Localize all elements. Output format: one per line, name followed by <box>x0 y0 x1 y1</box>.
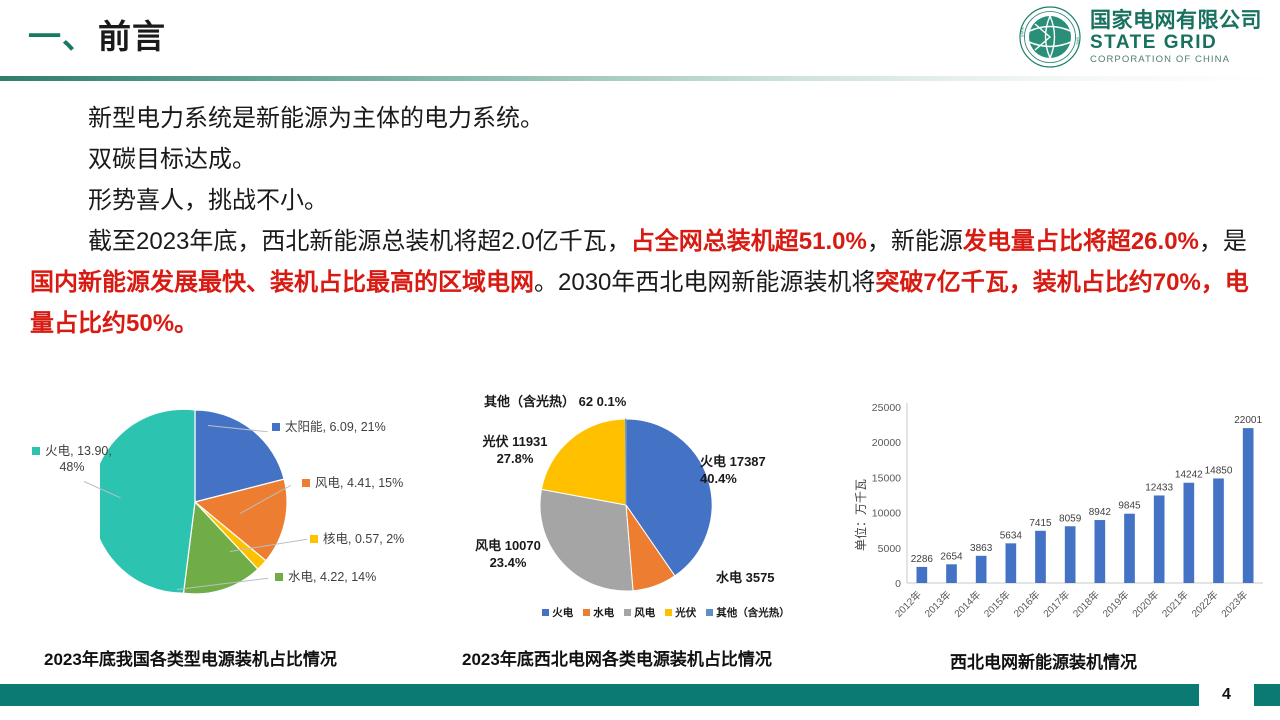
bar-chart-northwest-renewable: 0500010000150002000025000单位：万千瓦22862012年… <box>845 385 1270 625</box>
svg-text:25000: 25000 <box>872 402 901 414</box>
pie2-label-shuidian: 水电 3575 <box>716 569 836 586</box>
logo-name-cn: 国家电网有限公司 <box>1090 10 1262 31</box>
para-seg-8-highlight: 突破7亿千瓦 <box>875 269 1008 296</box>
svg-text:2654: 2654 <box>940 551 963 562</box>
svg-text:7415: 7415 <box>1029 518 1052 529</box>
svg-text:5634: 5634 <box>1000 530 1023 541</box>
svg-text:2286: 2286 <box>911 554 934 565</box>
header-divider <box>0 76 1280 81</box>
body-line-1: 新型电力系统是新能源为主体的电力系统。 <box>30 98 1260 139</box>
pie2-legend-item-guangfu: 光伏 <box>665 605 696 620</box>
logo-name-en-line1: STATE GRID <box>1090 33 1262 52</box>
para-seg-3: ，新能源 <box>867 228 963 255</box>
pie2-label-huodian: 火电 1738740.4% <box>700 453 835 487</box>
pie2-legend-swatch-guangfu-icon <box>665 609 672 616</box>
para-seg-4-highlight: 发电量占比将超26.0% <box>963 228 1199 255</box>
slide-page: 一、 前言 STATE GRID <box>0 0 1280 720</box>
bar-chart-svg: 0500010000150002000025000单位：万千瓦22862012年… <box>845 385 1270 630</box>
caption-pie2: 2023年底西北电网各类电源装机占比情况 <box>462 645 772 670</box>
para-seg-5: ，是 <box>1199 228 1247 255</box>
pie2-legend-item-fengdian: 风电 <box>624 605 655 620</box>
pie1-swatch-hedian-icon <box>310 535 318 543</box>
para-seg-6-highlight: 国内新能源发展最快、装机占比最高的区域电网 <box>30 269 534 296</box>
charts-row: 火电, 13.90, 48% 太阳能, 6.09, 21% 风电, 4.41, … <box>0 385 1280 665</box>
caption-pie1: 2023年底我国各类型电源装机占比情况 <box>44 645 337 670</box>
svg-text:2016年: 2016年 <box>1011 588 1043 620</box>
svg-text:8942: 8942 <box>1089 507 1112 518</box>
svg-text:22001: 22001 <box>1234 415 1262 426</box>
body-line-3: 形势喜人，挑战不小。 <box>30 180 1260 221</box>
pie2-legend-swatch-qita-icon <box>706 609 713 616</box>
pie2-label-guangfu: 光伏 1193127.8% <box>460 433 570 467</box>
footer-bar-left <box>0 684 1199 706</box>
pie2-legend-swatch-shuidian-icon <box>583 609 590 616</box>
body-line-2: 双碳目标达成。 <box>30 139 1260 180</box>
pie1-label-huodian: 火电, 13.90, 48% <box>22 443 122 475</box>
body-text-block: 新型电力系统是新能源为主体的电力系统。 双碳目标达成。 形势喜人，挑战不小。 截… <box>30 98 1260 344</box>
svg-text:2022年: 2022年 <box>1189 588 1221 620</box>
pie1-swatch-taiyangneng-icon <box>272 423 280 431</box>
svg-text:2017年: 2017年 <box>1040 588 1072 620</box>
svg-text:2012年: 2012年 <box>892 588 924 620</box>
svg-text:14850: 14850 <box>1205 465 1233 476</box>
svg-text:9845: 9845 <box>1118 501 1141 512</box>
pie-chart-northwest-capacity: 其他（含光热） 62 0.1% 光伏 1193127.8% 风电 1007023… <box>448 393 838 623</box>
slide-header: 一、 前言 STATE GRID <box>0 0 1280 80</box>
svg-text:STATE: STATE <box>1021 26 1025 37</box>
state-grid-globe-emblem: STATE GRID <box>1019 6 1081 68</box>
para-seg-2-highlight: 占全网总装机超51.0% <box>631 228 867 255</box>
svg-text:GRID: GRID <box>1076 37 1080 46</box>
pie2-legend-swatch-fengdian-icon <box>624 609 631 616</box>
logo-wordmark: 国家电网有限公司 STATE GRID CORPORATION OF CHINA <box>1090 10 1262 65</box>
para-seg-13: 。 <box>174 310 198 337</box>
page-title-text: 前言 <box>98 10 166 58</box>
para-seg-7: 。2030年西北电网新能源装机将 <box>534 269 875 296</box>
pie2-legend: 火电 水电 风电 光伏 其他（含光热） <box>496 605 836 620</box>
pie1-swatch-huodian-icon <box>32 447 40 455</box>
pie2-label-fengdian: 风电 1007023.4% <box>448 537 568 571</box>
pie2-label-qita: 其他（含光热） 62 0.1% <box>484 393 626 410</box>
svg-text:单位：万千瓦: 单位：万千瓦 <box>853 479 868 551</box>
svg-text:8059: 8059 <box>1059 513 1082 524</box>
pie1-label-hedian: 核电, 0.57, 2% <box>310 531 430 547</box>
pie1-swatch-shuidian-icon <box>275 573 283 581</box>
para-seg-11: ， <box>1201 269 1225 296</box>
svg-text:10000: 10000 <box>872 508 901 520</box>
pie1-swatch-fengdian-icon <box>302 479 310 487</box>
pie2-legend-item-qita: 其他（含光热） <box>706 605 790 620</box>
pie2-legend-item-shuidian: 水电 <box>583 605 614 620</box>
page-title-number: 一、 <box>28 10 96 58</box>
page-title: 一、 前言 <box>28 10 166 58</box>
svg-text:2020年: 2020年 <box>1129 588 1161 620</box>
body-paragraph-main: 截至2023年底，西北新能源总装机将超2.0亿千瓦，占全网总装机超51.0%，新… <box>30 221 1260 344</box>
svg-text:5000: 5000 <box>878 543 902 555</box>
svg-text:2019年: 2019年 <box>1100 588 1132 620</box>
pie1-label-fengdian: 风电, 4.41, 15% <box>302 475 422 491</box>
para-seg-1: 截至2023年底，西北新能源总装机将超2.0亿千瓦， <box>88 228 631 255</box>
svg-text:20000: 20000 <box>872 437 901 449</box>
footer-bar-right <box>1254 684 1280 706</box>
para-seg-10-highlight: 装机占比约70% <box>1033 269 1201 296</box>
state-grid-logo: STATE GRID 国家电网有限公司 STATE GRID CORPORATI… <box>1019 6 1262 68</box>
svg-text:2023年: 2023年 <box>1218 588 1250 620</box>
svg-text:3863: 3863 <box>970 543 993 554</box>
svg-text:2014年: 2014年 <box>951 588 983 620</box>
page-number: 4 <box>1199 683 1254 707</box>
svg-text:2015年: 2015年 <box>981 588 1013 620</box>
svg-text:14242: 14242 <box>1175 470 1203 481</box>
svg-text:2021年: 2021年 <box>1159 588 1191 620</box>
pie1-label-taiyangneng: 太阳能, 6.09, 21% <box>272 419 392 435</box>
svg-text:2018年: 2018年 <box>1070 588 1102 620</box>
caption-bar: 西北电网新能源装机情况 <box>950 648 1137 673</box>
svg-text:0: 0 <box>895 578 901 590</box>
svg-text:2013年: 2013年 <box>922 588 954 620</box>
pie1-label-shuidian: 水电, 4.22, 14% <box>275 569 395 585</box>
logo-name-en-line2: CORPORATION OF CHINA <box>1090 55 1262 65</box>
pie2-legend-swatch-huodian-icon <box>542 609 549 616</box>
svg-text:12433: 12433 <box>1145 482 1173 493</box>
pie-chart-national-capacity: 火电, 13.90, 48% 太阳能, 6.09, 21% 风电, 4.41, … <box>22 395 432 620</box>
pie2-legend-item-huodian: 火电 <box>542 605 573 620</box>
para-seg-9: ， <box>1009 269 1033 296</box>
svg-text:15000: 15000 <box>872 472 901 484</box>
